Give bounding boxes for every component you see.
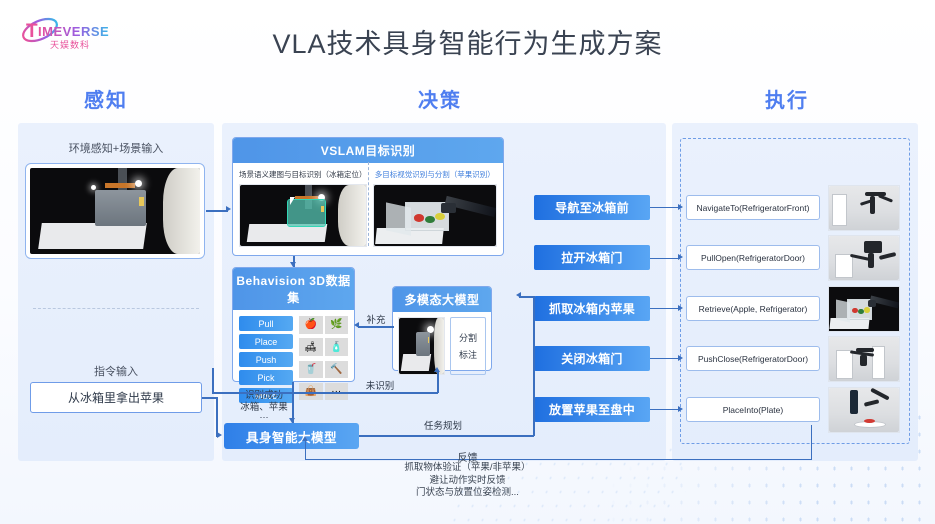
edge-label-unrecognized: 未识别 (358, 378, 402, 392)
exec-api-3: Retrieve(Apple, Refrigerator) (686, 296, 820, 321)
apple-icon: 🍎 (299, 316, 323, 334)
connector-task-planning-h (359, 435, 534, 437)
scene-input-photo (25, 163, 205, 259)
connector-task-branch (519, 296, 535, 298)
cup-icon: 🥤 (299, 361, 323, 379)
arrow-recognized (289, 418, 295, 423)
feedback-line-2: 避让动作实时反馈 (0, 475, 935, 488)
arrow-vslam-to-dataset (290, 262, 296, 267)
vslam-right-caption: 多目标视觉识别与分割（苹果识别） (373, 169, 498, 180)
arrow-step5-api (678, 406, 683, 412)
environment-input-caption: 环境感知+场景输入 (18, 140, 214, 156)
exec-step-1[interactable]: 导航至冰箱前 (534, 195, 650, 220)
connector-scene-to-vslam (206, 210, 228, 212)
exec-thumb-2 (828, 235, 900, 281)
phase-label-decision: 决策 (418, 84, 462, 113)
connector-unrecognized-v2 (437, 371, 439, 393)
slide-canvas: T IMEVERSE 天娱数科 VLA技术具身智能行为生成方案 感知 决策 执行… (0, 0, 935, 524)
vslam-card: VSLAM目标识别 场景语义建图与目标识别（冰箱定位） 多目标视觉识别与分割（苹… (232, 137, 504, 256)
edge-label-recognized-3: … (236, 410, 292, 421)
plant-icon: 🌿 (325, 316, 349, 334)
connector-supplement (358, 326, 394, 328)
connector-task-planning-v (533, 296, 535, 436)
exec-api-2: PullOpen(RefrigeratorDoor) (686, 245, 820, 270)
arrow-step4-api (678, 355, 683, 361)
embodied-model-box: 具身智能大模型 (224, 423, 359, 449)
behavision-object-grid: 🍎 🌿 🛋 🧴 🥤 🔨 👜 ··· (299, 316, 348, 403)
connector-step5-api (650, 409, 680, 410)
arrow-feedback (302, 436, 308, 441)
arrow-task-planning (516, 292, 521, 298)
behavision-title: Behavision 3D数据集 (233, 268, 354, 310)
command-input-caption: 指令输入 (18, 363, 214, 379)
action-place[interactable]: Place (239, 334, 293, 349)
arrow-supplement (354, 322, 359, 328)
connector-unrecognized-h (212, 392, 438, 394)
tool-icon: 🔨 (325, 361, 349, 379)
exec-step-2[interactable]: 拉开冰箱门 (534, 245, 650, 270)
command-input-value[interactable]: 从冰箱里拿出苹果 (30, 382, 202, 413)
bottle-icon: 🧴 (325, 338, 349, 356)
exec-thumb-1 (828, 185, 900, 231)
action-pick[interactable]: Pick (239, 370, 293, 385)
arrow-step2-api (678, 254, 683, 260)
arrow-step1-api (678, 204, 683, 210)
vslam-title: VSLAM目标识别 (233, 138, 503, 163)
feedback-line-3: 门状态与放置位姿检测... (0, 487, 935, 500)
edge-label-supplement: 补充 (356, 312, 396, 326)
connector-step2-api (650, 258, 680, 259)
connector-step1-api (650, 207, 680, 208)
action-pull[interactable]: Pull (239, 316, 293, 331)
connector-command-2 (216, 397, 218, 437)
multimodal-tags: 分割 标注 (450, 317, 486, 375)
connector-step4-api (650, 358, 680, 359)
vslam-separator (368, 162, 369, 246)
tag-annotation: 标注 (459, 348, 477, 361)
feedback-lines: 抓取物体验证（苹果/非苹果） 避让动作实时反馈 门状态与放置位姿检测... (0, 462, 935, 500)
exec-thumb-4 (828, 336, 900, 382)
feedback-line-1: 抓取物体验证（苹果/非苹果） (0, 462, 935, 475)
exec-step-5[interactable]: 放置苹果至盘中 (534, 397, 650, 422)
exec-api-1: NavigateTo(RefrigeratorFront) (686, 195, 820, 220)
connector-unrecognized-v1 (212, 368, 214, 393)
edge-label-task-planning: 任务规划 (418, 418, 468, 432)
exec-step-4[interactable]: 关闭冰箱门 (534, 346, 650, 371)
vslam-left-caption: 场景语义建图与目标识别（冰箱定位） (239, 169, 367, 180)
arrow-unrecognized (434, 367, 440, 372)
exec-api-4: PushClose(RefrigeratorDoor) (686, 346, 820, 371)
exec-step-3[interactable]: 抓取冰箱内苹果 (534, 296, 650, 321)
vslam-mapping-image (239, 184, 367, 247)
table-icon: 🛋 (299, 338, 323, 356)
exec-api-5: PlaceInto(Plate) (686, 397, 820, 422)
tag-segmentation: 分割 (459, 331, 477, 344)
exec-thumb-3 (828, 286, 900, 332)
phase-label-perception: 感知 (84, 84, 128, 113)
action-push[interactable]: Push (239, 352, 293, 367)
multimodal-title: 多模态大模型 (393, 287, 491, 312)
phase-label-execution: 执行 (765, 84, 809, 113)
connector-step3-api (650, 308, 680, 309)
exec-thumb-5 (828, 387, 900, 433)
arrow-step3-api (678, 305, 683, 311)
connector-recognized (292, 382, 294, 423)
arrow-scene-to-vslam (226, 206, 231, 212)
arrow-command-to-embodied (217, 432, 222, 438)
vslam-detection-image (373, 184, 498, 247)
page-title: VLA技术具身智能行为生成方案 (0, 22, 935, 61)
behavision-dataset-card: Behavision 3D数据集 Pull Place Push Pick Mo… (232, 267, 355, 382)
perception-divider (33, 308, 199, 309)
multimodal-model-card: 多模态大模型 分割 标注 (392, 286, 492, 371)
